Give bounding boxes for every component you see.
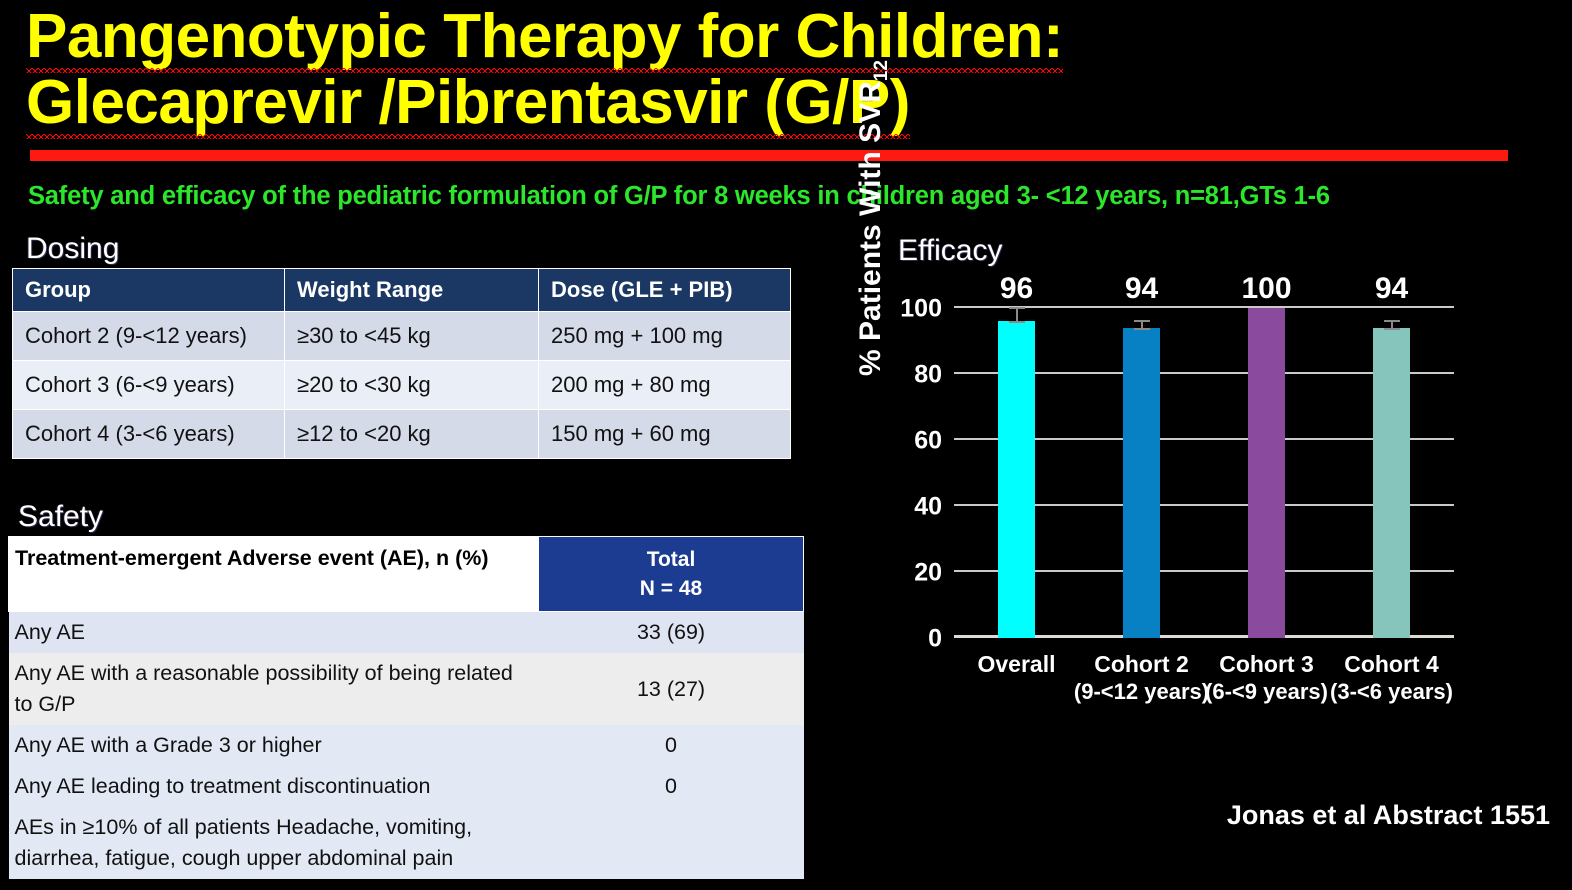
dosing-cell-dose: 200 mg + 80 mg xyxy=(539,361,791,410)
dosing-cell-group: Cohort 3 (6-<9 years) xyxy=(13,361,285,410)
safety-header-total-line1: Total xyxy=(647,548,696,571)
title-divider-rule xyxy=(30,150,1508,161)
dosing-cell-weight: ≥30 to <45 kg xyxy=(285,312,539,361)
chart-bar-value-label: 94 xyxy=(1125,272,1158,306)
efficacy-bar-chart: % Patients With SVR12 020406080100Overal… xyxy=(860,280,1560,700)
chart-y-axis-title-text: % Patients With SVR xyxy=(854,81,887,376)
safety-cell-event: Any AE with a reasonable possibility of … xyxy=(9,653,539,725)
dosing-header-weight: Weight Range xyxy=(285,269,539,312)
chart-bar-value-label: 100 xyxy=(1241,272,1291,306)
chart-error-bar xyxy=(1391,320,1393,330)
dosing-section-label: Dosing xyxy=(26,232,119,266)
table-row: Any AE leading to treatment discontinuat… xyxy=(9,766,804,807)
chart-x-tick-label-main: Cohort 2 xyxy=(1094,651,1189,677)
table-row: Cohort 4 (3-<6 years) ≥12 to <20 kg 150 … xyxy=(13,410,791,459)
safety-cell-value: 33 (69) xyxy=(539,612,804,654)
chart-x-tick-label-main: Cohort 4 xyxy=(1344,651,1439,677)
slide-subtitle: Safety and efficacy of the pediatric for… xyxy=(28,182,1548,211)
safety-cell-event: Any AE leading to treatment discontinuat… xyxy=(9,766,539,807)
title-line-1: Pangenotypic Therapy for Children: xyxy=(26,4,1556,70)
safety-cell-value: 0 xyxy=(539,725,804,766)
chart-y-tick-label: 100 xyxy=(900,295,942,324)
safety-header-event: Treatment-emergent Adverse event (AE), n… xyxy=(9,537,539,612)
safety-cell-event: Any AE xyxy=(9,612,539,654)
chart-x-tick-label: Overall xyxy=(978,650,1056,678)
table-row: Any AE with a reasonable possibility of … xyxy=(9,653,804,725)
chart-bar: Cohort 2(9-<12 years) xyxy=(1123,328,1160,638)
safety-header-row: Treatment-emergent Adverse event (AE), n… xyxy=(9,537,804,612)
table-row: Cohort 3 (6-<9 years) ≥20 to <30 kg 200 … xyxy=(13,361,791,410)
dosing-cell-weight: ≥12 to <20 kg xyxy=(285,410,539,459)
title-line-2: Glecaprevir /Pibrentasvir (G/P) xyxy=(26,70,1556,136)
dosing-header-dose: Dose (GLE + PIB) xyxy=(539,269,791,312)
chart-bar-value-label: 96 xyxy=(1000,272,1033,306)
safety-section-label: Safety xyxy=(18,500,103,534)
table-row: Cohort 2 (9-<12 years) ≥30 to <45 kg 250… xyxy=(13,312,791,361)
safety-cell-event: AEs in ≥10% of all patients Headache, vo… xyxy=(9,807,539,879)
title-line-2-text: Glecaprevir /Pibrentasvir (G/P) xyxy=(26,70,910,136)
dosing-cell-dose: 150 mg + 60 mg xyxy=(539,410,791,459)
chart-x-tick-label: Cohort 3(6-<9 years) xyxy=(1205,650,1328,706)
chart-y-tick-label: 0 xyxy=(928,625,942,654)
safety-cell-value: 13 (27) xyxy=(539,653,804,725)
table-row: Any AE with a Grade 3 or higher 0 xyxy=(9,725,804,766)
safety-cell-value: 0 xyxy=(539,766,804,807)
chart-x-tick-label-main: Overall xyxy=(978,651,1056,677)
title-line-1-text: Pangenotypic Therapy for Children: xyxy=(26,4,1063,70)
chart-y-tick-label: 80 xyxy=(914,361,942,390)
chart-bar: Cohort 4(3-<6 years) xyxy=(1373,328,1410,638)
chart-x-tick-label-sub: (3-<6 years) xyxy=(1330,678,1453,706)
chart-error-bar xyxy=(1016,307,1018,324)
dosing-cell-group: Cohort 4 (3-<6 years) xyxy=(13,410,285,459)
chart-y-axis-title: % Patients With SVR12 xyxy=(854,60,893,376)
dosing-cell-group: Cohort 2 (9-<12 years) xyxy=(13,312,285,361)
chart-error-bar xyxy=(1141,320,1143,330)
chart-gridline xyxy=(954,306,1454,308)
chart-bar-value-label: 94 xyxy=(1375,272,1408,306)
safety-table: Treatment-emergent Adverse event (AE), n… xyxy=(8,536,804,879)
chart-bar: Overall xyxy=(998,321,1035,638)
dosing-cell-dose: 250 mg + 100 mg xyxy=(539,312,791,361)
attribution-text: Jonas et al Abstract 1551 xyxy=(1227,800,1550,831)
chart-bar: Cohort 3(6-<9 years) xyxy=(1248,308,1285,638)
chart-x-tick-label: Cohort 4(3-<6 years) xyxy=(1330,650,1453,706)
chart-x-tick-label-main: Cohort 3 xyxy=(1219,651,1314,677)
chart-x-tick-label: Cohort 2(9-<12 years) xyxy=(1074,650,1209,706)
chart-y-tick-label: 40 xyxy=(914,493,942,522)
safety-header-total-line2: N = 48 xyxy=(640,577,702,600)
table-row: Any AE 33 (69) xyxy=(9,612,804,654)
chart-x-tick-label-sub: (9-<12 years) xyxy=(1074,678,1209,706)
chart-y-tick-label: 20 xyxy=(914,559,942,588)
safety-header-total: Total N = 48 xyxy=(539,537,804,612)
chart-x-tick-label-sub: (6-<9 years) xyxy=(1205,678,1328,706)
safety-cell-event: Any AE with a Grade 3 or higher xyxy=(9,725,539,766)
chart-plot-area: 020406080100Overall96Cohort 2(9-<12 year… xyxy=(954,308,1454,638)
dosing-header-row: Group Weight Range Dose (GLE + PIB) xyxy=(13,269,791,312)
chart-y-axis-title-sub: 12 xyxy=(871,60,892,81)
dosing-table: Group Weight Range Dose (GLE + PIB) Coho… xyxy=(12,268,791,459)
dosing-cell-weight: ≥20 to <30 kg xyxy=(285,361,539,410)
table-row: AEs in ≥10% of all patients Headache, vo… xyxy=(9,807,804,879)
slide-title: Pangenotypic Therapy for Children: Gleca… xyxy=(26,4,1556,136)
dosing-header-group: Group xyxy=(13,269,285,312)
chart-y-tick-label: 60 xyxy=(914,427,942,456)
safety-cell-value xyxy=(539,807,804,879)
efficacy-section-label: Efficacy xyxy=(898,234,1003,268)
slide-root: Pangenotypic Therapy for Children: Gleca… xyxy=(0,0,1572,890)
